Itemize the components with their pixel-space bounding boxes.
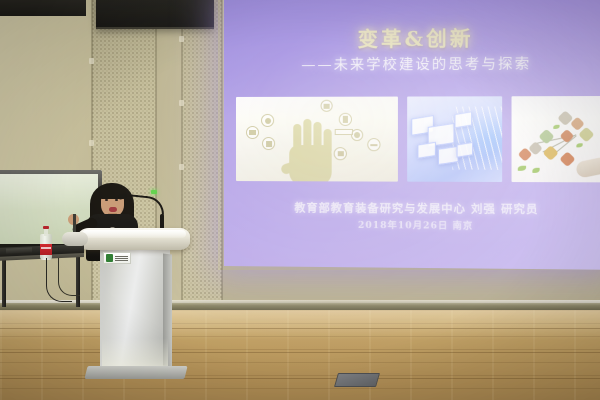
- wall-seam-cap: [179, 100, 184, 106]
- camera-icon: [321, 100, 333, 112]
- wall-seam-cap: [89, 58, 94, 64]
- slide-title: 变革&创新: [224, 21, 600, 53]
- search-field-graphic: [335, 129, 353, 135]
- microphone-led-indicator: [151, 190, 157, 194]
- edit-icon: [262, 137, 275, 150]
- projection-screen: 变革&创新 ——未来学校建设的思考与探索: [224, 0, 600, 270]
- logo-mark: [106, 254, 113, 262]
- slide-image-strip: [236, 96, 600, 182]
- lectern-desktop-highlight: [82, 230, 186, 238]
- bottle-neck: [44, 228, 48, 236]
- ceiling-dark-unit-left: [0, 0, 86, 16]
- app-tile: [578, 127, 594, 143]
- leaf-shape: [577, 143, 583, 147]
- floating-card: [438, 146, 459, 165]
- slide-date-location-text: 2018年10月26日 南京: [224, 217, 600, 233]
- minus-icon: [367, 138, 380, 151]
- speaker-eye: [105, 199, 108, 201]
- lectern-light-reflection: [102, 338, 168, 368]
- floating-card: [454, 111, 472, 128]
- slide-subtitle: ——未来学校建设的思考与探索: [224, 53, 600, 75]
- app-tile: [543, 145, 559, 161]
- lectern: [78, 228, 190, 388]
- leaf-shape: [518, 166, 526, 171]
- institution-logo: [103, 252, 131, 264]
- cable: [58, 258, 80, 296]
- wall-seam-cap: [89, 140, 94, 146]
- floor-outlet-plate: [334, 373, 380, 387]
- speaker-eye: [115, 199, 118, 201]
- speaker-stand: [73, 214, 76, 234]
- phone-icon: [261, 114, 274, 127]
- speaker-mouth: [109, 207, 117, 212]
- hand-interface-panel: [236, 97, 397, 182]
- lecture-hall-photo: 变革&创新 ——未来学校建设的思考与探索: [0, 0, 600, 400]
- bottle-cap: [43, 226, 49, 229]
- table-leg: [2, 255, 6, 307]
- icon-tree-panel: [512, 96, 600, 182]
- leaf-shape: [533, 168, 540, 173]
- wall-seam: [221, 0, 223, 300]
- lectern-base: [84, 366, 187, 379]
- audio-speaker: [62, 232, 88, 246]
- hand-reaching-graphic: [575, 157, 600, 179]
- mail-icon: [246, 126, 259, 139]
- logo-text-lines: [115, 256, 128, 261]
- slide-organization-text: 教育部教育装备研究与发展中心 刘强 研究员: [224, 199, 600, 217]
- projector-housing: [96, 0, 214, 29]
- floating-card: [417, 142, 436, 159]
- wall-seam-cap: [179, 164, 184, 170]
- back-icon: [334, 147, 347, 160]
- floating-card: [456, 142, 473, 158]
- wall-seam-cap: [179, 36, 184, 42]
- app-tile: [560, 151, 576, 167]
- water-bottle: [40, 226, 52, 260]
- bottle-label: [40, 244, 52, 255]
- floating-screens-panel: [407, 96, 503, 182]
- hand-illustration: [282, 113, 339, 182]
- document-icon: [339, 113, 352, 126]
- leaf-shape: [554, 125, 560, 129]
